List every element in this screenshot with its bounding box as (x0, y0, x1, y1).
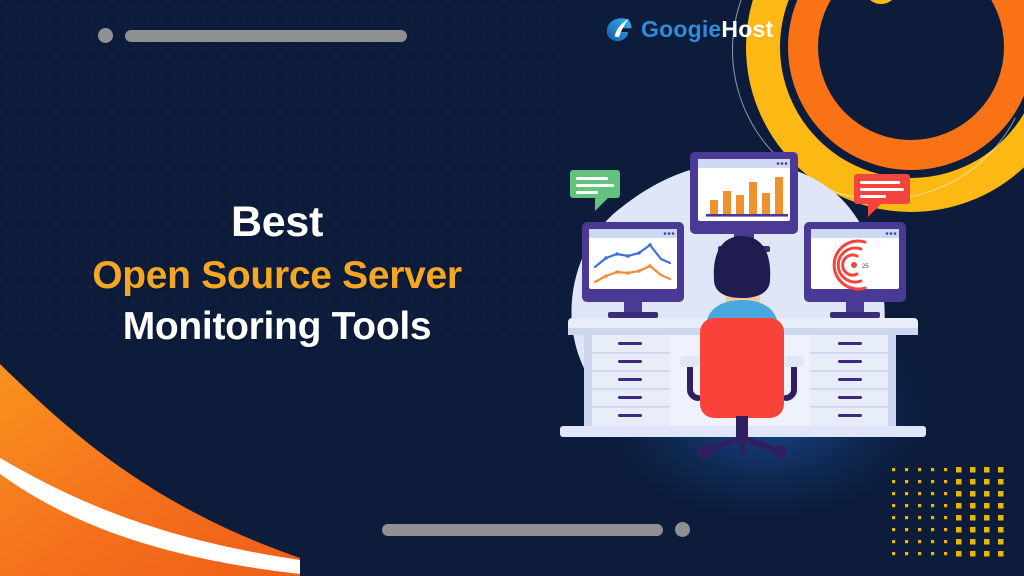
right-bubble (854, 174, 910, 217)
top-progress-track[interactable] (125, 30, 407, 42)
headline-line-1: Best (62, 196, 492, 248)
brand-name-second: Host (721, 16, 773, 42)
top-progress-bar[interactable] (98, 28, 407, 43)
bottom-progress-track[interactable] (382, 524, 663, 536)
chair-base (708, 438, 776, 452)
top-progress-knob[interactable] (98, 28, 113, 43)
illustration-server-monitoring: 25 (548, 132, 938, 462)
headline-line-3: Monitoring Tools (62, 303, 492, 351)
chair-back (700, 318, 784, 418)
person-hair (714, 236, 770, 298)
brand-logo[interactable]: GoogieHost (604, 14, 773, 44)
googiehost-swoosh-icon (604, 14, 634, 44)
page-title: Best Open Source Server Monitoring Tools (62, 196, 492, 351)
headline-line-2: Open Source Server (62, 252, 492, 300)
brand-name-first: Googie (641, 16, 721, 42)
brand-logo-text: GoogieHost (641, 18, 773, 41)
banner-root: GoogieHost Best Open Source Server Monit… (0, 0, 1024, 576)
decor-swoosh-group (0, 346, 300, 576)
left-bubble (570, 170, 620, 211)
radar-center-label: 25 (862, 264, 869, 270)
bottom-progress-knob[interactable] (675, 522, 690, 537)
decor-dot-grid (890, 466, 1006, 558)
bottom-progress-bar[interactable] (382, 522, 690, 537)
